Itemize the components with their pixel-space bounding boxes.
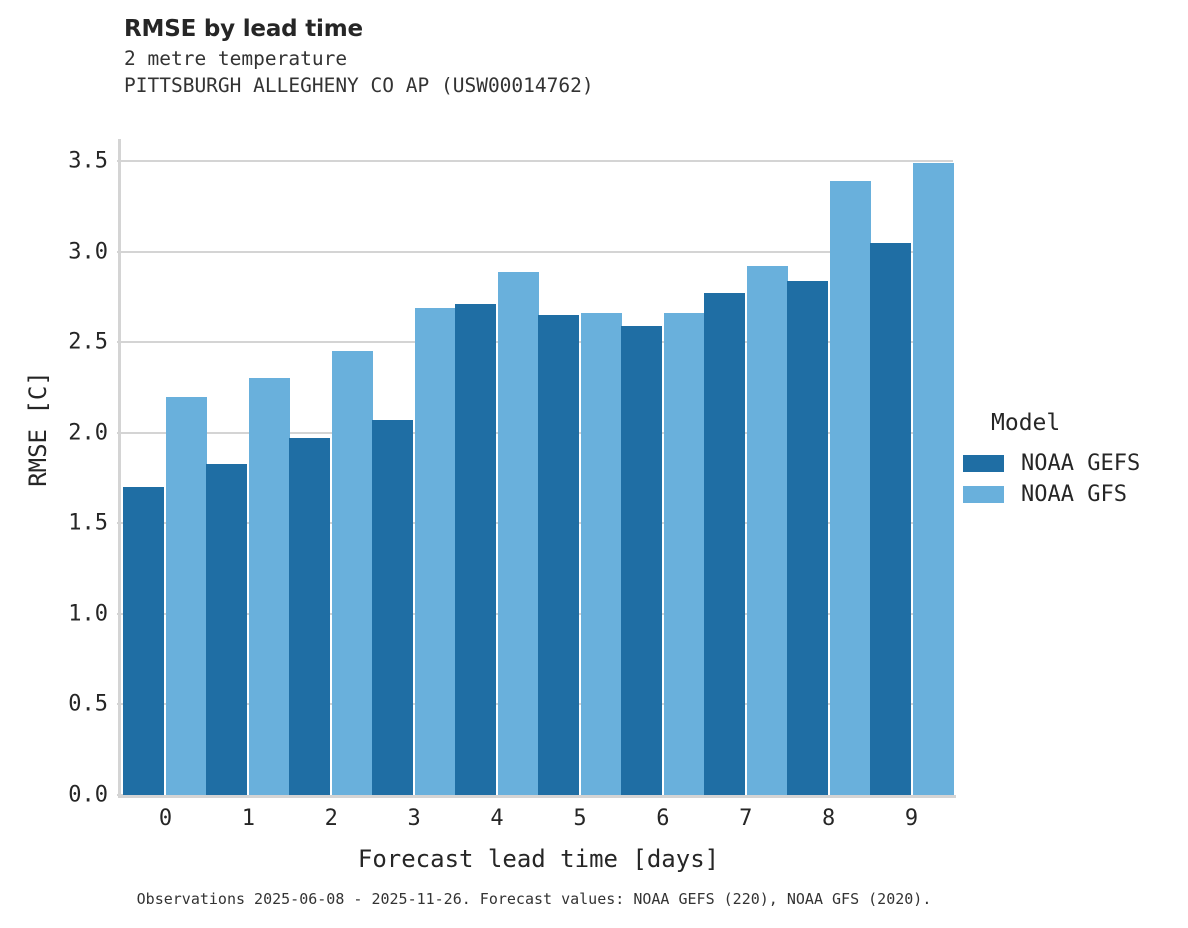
x-tick-label: 2 bbox=[325, 806, 338, 831]
x-tick-label: 8 bbox=[822, 806, 835, 831]
x-tick-label: 1 bbox=[242, 806, 255, 831]
legend-item[interactable]: NOAA GEFS bbox=[963, 448, 1183, 479]
bar bbox=[747, 266, 788, 795]
y-tick-mark bbox=[117, 432, 124, 434]
bar bbox=[123, 487, 164, 795]
bar bbox=[206, 464, 247, 795]
y-tick-label: 0.0 bbox=[0, 783, 108, 808]
y-tick-label: 1.5 bbox=[0, 511, 108, 536]
bar bbox=[913, 163, 954, 795]
x-tick-label: 7 bbox=[739, 806, 752, 831]
bar bbox=[498, 272, 539, 796]
y-tick-label: 0.5 bbox=[0, 692, 108, 717]
x-axis-tick-labels: 0123456789 bbox=[124, 806, 953, 840]
x-axis-title: Forecast lead time [days] bbox=[124, 845, 953, 873]
bar bbox=[621, 326, 662, 795]
bar bbox=[249, 378, 290, 795]
bar bbox=[538, 315, 579, 795]
bar bbox=[455, 304, 496, 795]
bar bbox=[332, 351, 373, 795]
x-tick-label: 3 bbox=[408, 806, 421, 831]
gridline bbox=[124, 160, 953, 162]
y-axis-spine bbox=[118, 139, 121, 797]
legend-swatch-icon bbox=[963, 486, 1004, 503]
y-tick-mark bbox=[117, 251, 124, 253]
bar bbox=[830, 181, 871, 795]
bar bbox=[787, 281, 828, 795]
x-tick-label: 0 bbox=[159, 806, 172, 831]
y-axis-tick-labels: 0.00.51.01.52.02.53.03.5 bbox=[0, 161, 108, 795]
bar bbox=[372, 420, 413, 795]
legend: Model NOAA GEFSNOAA GFS bbox=[963, 410, 1183, 510]
y-tick-label: 2.5 bbox=[0, 330, 108, 355]
x-axis-spine bbox=[118, 795, 956, 798]
chart-subtitle-station: PITTSBURGH ALLEGHENY CO AP (USW00014762) bbox=[124, 73, 1024, 100]
x-tick-label: 5 bbox=[573, 806, 586, 831]
legend-item[interactable]: NOAA GFS bbox=[963, 479, 1183, 510]
legend-items: NOAA GEFSNOAA GFS bbox=[963, 448, 1183, 510]
bar bbox=[704, 293, 745, 795]
y-tick-mark bbox=[117, 160, 124, 162]
bar bbox=[166, 397, 207, 796]
legend-swatch-icon bbox=[963, 455, 1004, 472]
legend-title: Model bbox=[991, 410, 1183, 436]
bar bbox=[664, 313, 705, 795]
footer-note: Observations 2025-06-08 - 2025-11-26. Fo… bbox=[0, 890, 1068, 908]
y-axis-title: RMSE [C] bbox=[24, 329, 52, 529]
chart-header: RMSE by lead time 2 metre temperature PI… bbox=[124, 16, 1024, 100]
legend-label: NOAA GFS bbox=[1021, 482, 1127, 507]
x-tick-label: 9 bbox=[905, 806, 918, 831]
legend-label: NOAA GEFS bbox=[1021, 451, 1140, 476]
bar bbox=[415, 308, 456, 795]
y-tick-label: 3.5 bbox=[0, 149, 108, 174]
y-tick-mark bbox=[117, 341, 124, 343]
x-tick-label: 6 bbox=[656, 806, 669, 831]
bar bbox=[581, 313, 622, 795]
chart-subtitle-variable: 2 metre temperature bbox=[124, 46, 1024, 73]
gridline bbox=[124, 251, 953, 253]
y-tick-label: 2.0 bbox=[0, 420, 108, 445]
page-title: RMSE by lead time bbox=[124, 16, 1024, 42]
bar bbox=[870, 243, 911, 795]
y-tick-label: 3.0 bbox=[0, 239, 108, 264]
x-tick-label: 4 bbox=[490, 806, 503, 831]
bar bbox=[289, 438, 330, 795]
y-tick-label: 1.0 bbox=[0, 601, 108, 626]
plot-area bbox=[124, 161, 953, 795]
